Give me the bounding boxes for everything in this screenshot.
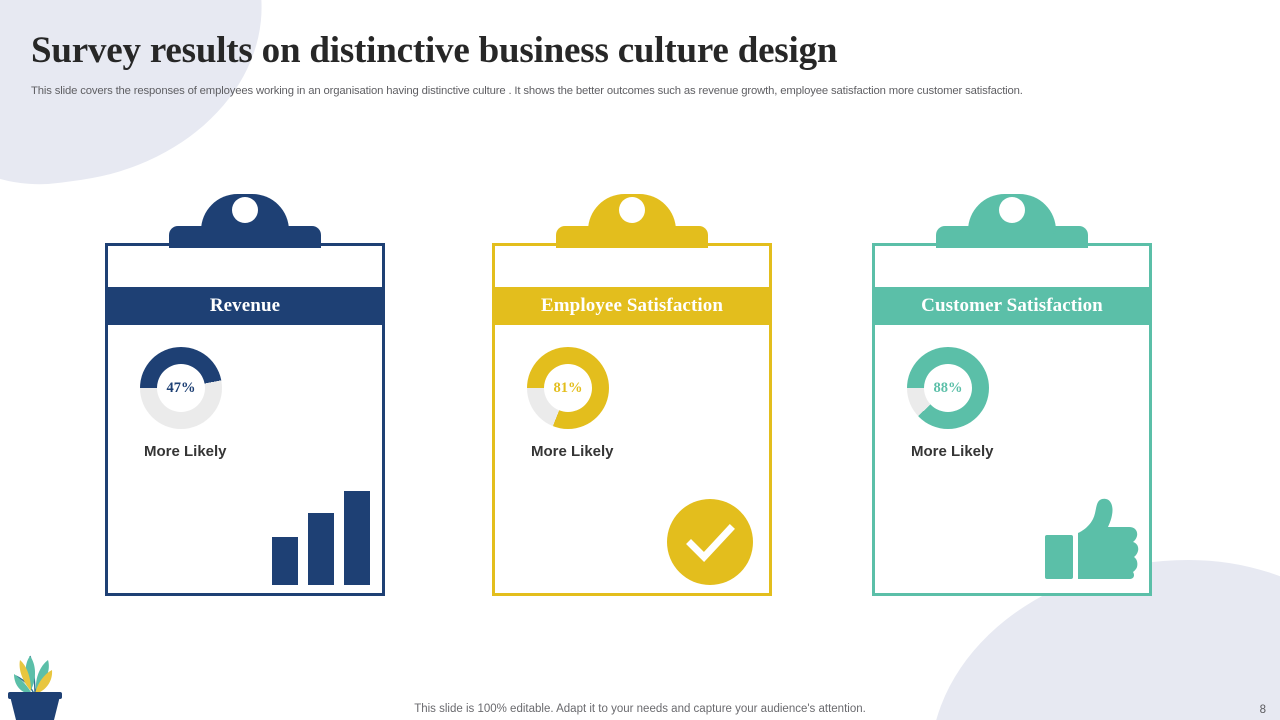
card-title-band: Revenue: [108, 287, 382, 325]
card-body: 88% More Likely: [875, 325, 1149, 593]
clipboard-clip-icon: [936, 198, 1088, 248]
page-title: Survey results on distinctive business c…: [31, 29, 837, 72]
page-subtitle: This slide covers the responses of emplo…: [31, 85, 1023, 97]
card-title: Employee Satisfaction: [541, 295, 723, 317]
footer-note: This slide is 100% editable. Adapt it to…: [0, 703, 1280, 715]
donut-chart-revenue: 47%: [140, 347, 222, 429]
donut-chart-employee-satisfaction: 81%: [527, 347, 609, 429]
metric-card-customer-satisfaction[interactable]: Customer Satisfaction 88% More Likely: [872, 243, 1152, 596]
metric-card-revenue[interactable]: Revenue 47% More Likely: [105, 243, 385, 596]
donut-percent-label: 47%: [167, 380, 196, 397]
donut-center: 47%: [157, 364, 205, 412]
metric-card-employee-satisfaction[interactable]: Employee Satisfaction 81% More Likely: [492, 243, 772, 596]
donut-percent-label: 81%: [554, 380, 583, 397]
card-caption: More Likely: [911, 443, 994, 460]
card-body: 47% More Likely: [108, 325, 382, 593]
card-top-strip: [495, 246, 769, 287]
clipboard-clip-icon: [169, 198, 321, 248]
thumbs-up-icon: [1045, 491, 1141, 587]
card-caption: More Likely: [531, 443, 614, 460]
card-top-strip: [108, 246, 382, 287]
donut-percent-label: 88%: [934, 380, 963, 397]
bar-chart-icon: [272, 489, 372, 585]
card-title: Customer Satisfaction: [921, 295, 1103, 317]
card-title: Revenue: [210, 295, 280, 317]
donut-center: 81%: [544, 364, 592, 412]
card-top-strip: [875, 246, 1149, 287]
card-title-band: Employee Satisfaction: [495, 287, 769, 325]
page-number: 8: [1260, 704, 1266, 716]
card-body: 81% More Likely: [495, 325, 769, 593]
clipboard-clip-icon: [556, 198, 708, 248]
card-caption: More Likely: [144, 443, 227, 460]
donut-center: 88%: [924, 364, 972, 412]
check-circle-icon: [667, 499, 753, 585]
slide-canvas: Survey results on distinctive business c…: [0, 0, 1280, 720]
card-title-band: Customer Satisfaction: [875, 287, 1149, 325]
donut-chart-customer-satisfaction: 88%: [907, 347, 989, 429]
